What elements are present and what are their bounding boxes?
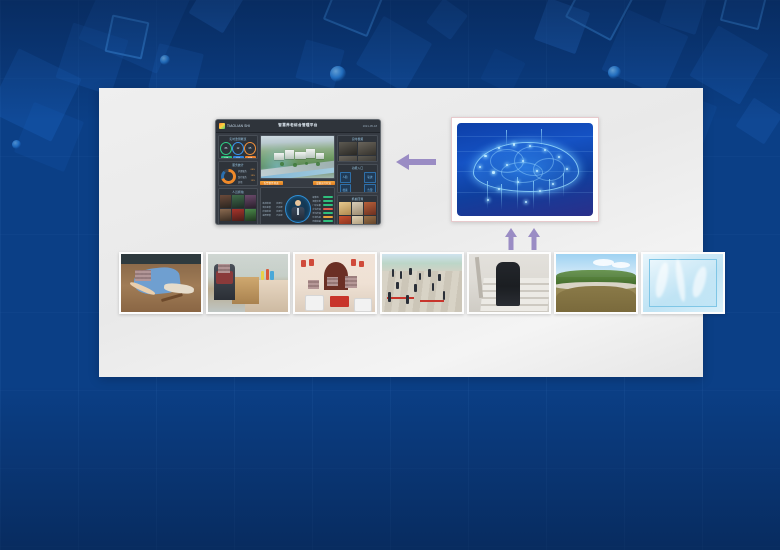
- photo-basin: [305, 295, 325, 311]
- legend-label: 护理服务: [238, 169, 247, 173]
- photo-person: [392, 269, 395, 277]
- brain-node: [484, 155, 486, 157]
- photo-image: [121, 254, 201, 312]
- device-bar: [323, 208, 332, 210]
- photo-image: [382, 254, 462, 312]
- campus-building: [274, 153, 283, 160]
- avatar-tie: [297, 208, 299, 215]
- capture-thumb[interactable]: [245, 209, 256, 222]
- live-video-card[interactable]: 实时视频: [337, 135, 378, 162]
- photo-bottle: [270, 271, 273, 279]
- campus-tree: [280, 162, 284, 166]
- photo-image: [469, 254, 549, 312]
- device-bar: [323, 204, 332, 206]
- device-label: 网络链路: [313, 220, 321, 223]
- alarm-event-row[interactable]: 徘徊检测处理中: [263, 210, 283, 213]
- bg-square-8: [323, 0, 385, 37]
- function-icon-face[interactable]: 人脸: [340, 172, 351, 183]
- brain-node: [498, 147, 500, 149]
- bg-glow-dot-1: [160, 55, 170, 65]
- bg-square-14: [601, 9, 688, 96]
- photo-person: [406, 295, 409, 304]
- brain-stem-line: [549, 179, 550, 207]
- photo-person: [400, 271, 403, 279]
- gauge-row: 86 12 05: [219, 141, 257, 155]
- photo-person-on-stairs: [496, 262, 520, 306]
- device-bar: [323, 196, 332, 198]
- gauge-online[interactable]: 86: [220, 142, 232, 155]
- alarm-label: 徘徊检测: [263, 210, 271, 213]
- function-entry-card[interactable]: 功能入口 人脸 轨迹 档案 告警: [337, 164, 378, 193]
- photo-person: [443, 291, 446, 300]
- campus-building: [316, 153, 324, 159]
- legend-value: 13%: [251, 180, 255, 184]
- photo-fall-detection[interactable]: [119, 252, 203, 314]
- alarm-label: 跌倒检测: [263, 202, 271, 205]
- photo-bedside-care[interactable]: [206, 252, 290, 314]
- device-label: 智能床垫: [313, 200, 321, 203]
- device-bar: [323, 220, 332, 222]
- bg-glow-dot-3: [608, 66, 621, 79]
- face-mosaic-overlay: [218, 264, 231, 273]
- campus-building: [306, 149, 315, 158]
- bg-square-11: [426, 0, 468, 40]
- capture-thumbs-card[interactable]: 人员抓拍: [218, 188, 258, 225]
- device-status-bar[interactable]: 设备运行状态: [313, 181, 336, 185]
- campus-building: [285, 150, 294, 158]
- photo-vest: [216, 271, 233, 284]
- bg-glow-dot-2: [330, 66, 346, 82]
- dashboard-header: TIAOLIAN SHI 智慧养老综合管理平台 2021-05-18: [216, 120, 380, 133]
- alarm-state: 已处理: [276, 214, 282, 217]
- photo-person: [409, 268, 412, 276]
- bg-square-13: [565, 0, 635, 41]
- photo-lake: [556, 286, 636, 312]
- function-icon-track[interactable]: 轨迹: [364, 172, 375, 183]
- overview-card[interactable]: 实时监测概览 86 12 05 正常 关注 异常: [218, 135, 258, 159]
- gauge-warning[interactable]: 12: [232, 142, 244, 155]
- photo-person: [432, 283, 435, 291]
- device-status-row[interactable]: 摄像机: [313, 196, 333, 199]
- bg-square-1: [78, 0, 192, 74]
- bg-square-7: [14, 102, 84, 172]
- service-legend: 护理服务 68% 医疗服务 19% 其他 13%: [238, 169, 255, 183]
- alarm-event-list: 跌倒检测处理中 离床报警已处理 徘徊检测处理中 越界预警已处理: [263, 202, 283, 217]
- live-video-grid: [338, 141, 377, 162]
- ai-neural-network-icon: [457, 123, 593, 216]
- photo-bottle: [261, 271, 264, 279]
- slide-content-panel: TIAOLIAN SHI 智慧养老综合管理平台 2021-05-18 实时监测概…: [99, 88, 703, 377]
- function-icon-archive[interactable]: 档案: [340, 184, 351, 193]
- brain-stem-line: [541, 129, 542, 148]
- up-arrow-left-icon: [504, 228, 518, 250]
- device-status-row[interactable]: 定位终端: [313, 208, 333, 211]
- photo-cloud: [612, 262, 630, 268]
- bg-square-9: [356, 16, 432, 92]
- video-feed[interactable]: [339, 156, 357, 162]
- photo-person: [388, 292, 391, 301]
- alarm-events-bar[interactable]: 告警事件列表: [260, 181, 283, 185]
- dashboard-title: 智慧养老综合管理平台: [278, 123, 317, 128]
- alarm-event-row[interactable]: 离床报警已处理: [263, 206, 283, 209]
- capture-thumb-grid: [219, 194, 257, 222]
- photo-handrail: [475, 257, 483, 298]
- device-label: 定位终端: [313, 208, 321, 211]
- capture-thumb[interactable]: [220, 195, 231, 208]
- video-feed[interactable]: [339, 142, 357, 155]
- dashboard-brand: TIAOLIAN SHI: [227, 124, 250, 128]
- device-bar: [323, 216, 332, 218]
- bg-square-2: [189, 0, 244, 33]
- brain-stem-line: [501, 184, 502, 210]
- photo-barrier: [420, 300, 444, 302]
- photo-wall-decor: [301, 260, 306, 267]
- function-icon-grid: 人脸 轨迹 档案 告警: [338, 170, 377, 193]
- photo-red-box: [330, 296, 349, 308]
- alarm-label: 越界预警: [263, 214, 271, 217]
- photo-activity-room[interactable]: [293, 252, 377, 314]
- device-status-row[interactable]: 门禁设备: [313, 204, 333, 207]
- focus-person-avatar[interactable]: [285, 195, 311, 223]
- photo-object: [161, 293, 183, 303]
- video-feed[interactable]: [358, 142, 376, 155]
- bg-square-17: [720, 0, 768, 30]
- photo-image: [295, 254, 375, 312]
- brain-node: [525, 201, 527, 203]
- up-arrow-right-icon: [527, 228, 541, 250]
- service-donut-chart[interactable]: [221, 169, 236, 184]
- face-mosaic-overlay: [345, 276, 358, 288]
- brain-stem-line: [506, 130, 507, 147]
- alarm-state: 已处理: [276, 206, 282, 209]
- capture-thumb[interactable]: [232, 209, 243, 222]
- gallery-thumb[interactable]: [352, 216, 364, 225]
- pill-normal[interactable]: 正常: [221, 156, 232, 159]
- device-status-list: 摄像机 智能床垫 门禁设备 定位终端 呼叫终端 环境传感 网络链路: [313, 196, 333, 223]
- gallery-thumb[interactable]: [364, 216, 376, 225]
- brain-scanline: [457, 192, 593, 193]
- photo-person: [396, 282, 399, 290]
- focus-person-panel[interactable]: 跌倒检测处理中 离床报警已处理 徘徊检测处理中 越界预警已处理 摄像机 智能床垫…: [260, 187, 335, 225]
- gallery-thumb[interactable]: [339, 216, 351, 225]
- device-status-row[interactable]: 呼叫终端: [313, 212, 333, 215]
- photo-lakeside-park[interactable]: [554, 252, 638, 314]
- device-status-row[interactable]: 环境传感: [313, 216, 333, 219]
- campus-tree: [293, 163, 297, 167]
- service-legend-row: 护理服务 68%: [238, 169, 255, 173]
- brain-node: [536, 170, 538, 172]
- brain-stem-line: [563, 173, 564, 197]
- dashboard-left-column: 实时监测概览 86 12 05 正常 关注 异常 服务统计: [218, 135, 258, 225]
- bg-square-15: [659, 0, 707, 35]
- service-donut-wrap: 护理服务 68% 医疗服务 19% 其他 13%: [219, 167, 257, 186]
- bg-square-3: [55, 22, 128, 95]
- brain-scanline: [457, 136, 593, 137]
- function-icon-alarm[interactable]: 告警: [364, 184, 375, 193]
- left-arrow-icon: [396, 152, 436, 172]
- service-legend-row: 其他 13%: [238, 180, 255, 184]
- gauge-alarm[interactable]: 05: [244, 142, 256, 155]
- alarm-event-row[interactable]: 跌倒检测处理中: [263, 202, 283, 205]
- bg-square-19: [735, 97, 780, 144]
- brain-stem-line: [533, 181, 534, 211]
- dashboard-screenshot[interactable]: TIAOLIAN SHI 智慧养老综合管理平台 2021-05-18 实时监测概…: [215, 119, 381, 225]
- photo-wall-decor: [351, 259, 356, 266]
- photo-person: [438, 274, 441, 282]
- legend-value: 19%: [251, 175, 255, 179]
- status-pill-row: 正常 关注 异常: [219, 155, 257, 159]
- capture-thumb[interactable]: [232, 195, 243, 208]
- brain-node: [479, 166, 481, 168]
- dashboard-body: 实时监测概览 86 12 05 正常 关注 异常 服务统计: [216, 133, 380, 225]
- photo-bottle: [266, 269, 269, 279]
- device-status-row[interactable]: 智能床垫: [313, 200, 333, 203]
- device-status-row[interactable]: 网络链路: [313, 220, 333, 223]
- photo-pavement: [382, 271, 462, 312]
- service-legend-row: 医疗服务 19%: [238, 175, 255, 179]
- bg-square-12: [534, 0, 590, 54]
- video-feed[interactable]: [358, 156, 376, 162]
- capture-gallery-grid: [338, 201, 377, 225]
- photo-cabinet: [232, 277, 259, 304]
- legend-label: 医疗服务: [238, 175, 247, 179]
- bg-square-10: [295, 39, 344, 88]
- device-bar: [323, 200, 332, 202]
- gallery-thumb[interactable]: [364, 202, 376, 215]
- photo-image: [556, 254, 636, 312]
- campus-3d-view[interactable]: [260, 135, 335, 179]
- evidence-photo-strip: [119, 252, 725, 314]
- alarm-state: 处理中: [276, 210, 282, 213]
- brain-stem-line: [517, 177, 518, 210]
- bg-square-4: [104, 14, 149, 59]
- photo-placeholder[interactable]: [641, 252, 725, 314]
- pill-abnormal[interactable]: 异常: [245, 156, 256, 159]
- brain-node: [492, 171, 494, 173]
- bg-glow-dot-4: [12, 140, 21, 149]
- dashboard-time: 2021-05-18: [363, 124, 377, 128]
- function-icon-spacer: [352, 172, 363, 183]
- brain-node: [506, 164, 508, 166]
- photo-wall-decor: [309, 259, 314, 267]
- dashboard-center-column: 告警事件列表 设备运行状态 跌倒检测处理中 离床报警已处理 徘徊检测处理中 越界…: [260, 135, 335, 225]
- brain-stem-line: [487, 181, 488, 209]
- bg-square-5: [0, 48, 82, 142]
- dashboard-right-column: 实时视频 功能入口 人脸 轨迹 档案: [337, 135, 378, 225]
- gallery-thumb[interactable]: [352, 202, 364, 215]
- dashboard-logo-icon: [219, 123, 225, 129]
- ai-brain-card[interactable]: [451, 117, 599, 222]
- brain-node: [539, 190, 541, 192]
- photo-courtyard-crowd[interactable]: [380, 252, 464, 314]
- face-mosaic-overlay: [308, 280, 319, 289]
- face-mosaic-overlay: [327, 277, 338, 286]
- alarm-event-row[interactable]: 越界预警已处理: [263, 214, 283, 217]
- capture-thumb[interactable]: [220, 209, 231, 222]
- legend-label: 其他: [238, 180, 242, 184]
- photo-person: [419, 273, 422, 281]
- service-stats-card[interactable]: 服务统计 护理服务 68% 医疗服务 19%: [218, 161, 258, 186]
- photo-image: [208, 254, 288, 312]
- device-label: 呼叫终端: [313, 212, 321, 215]
- photo-person: [428, 269, 431, 277]
- photo-wall-decor: [359, 261, 364, 267]
- photo-cloud: [593, 259, 614, 266]
- brain-fold: [533, 158, 565, 180]
- legend-value: 68%: [251, 169, 255, 173]
- avatar-head: [295, 200, 301, 206]
- device-label: 环境传感: [313, 216, 321, 219]
- capture-gallery-card[interactable]: 抓拍回溯: [337, 195, 378, 225]
- device-bar: [323, 212, 332, 214]
- alarm-label: 离床报警: [263, 206, 271, 209]
- function-icon-spacer: [352, 184, 363, 193]
- photo-basin: [354, 298, 372, 312]
- device-label: 门禁设备: [313, 204, 321, 207]
- alarm-state: 处理中: [276, 202, 282, 205]
- pill-attention[interactable]: 关注: [233, 156, 244, 159]
- photo-stairway[interactable]: [467, 252, 551, 314]
- device-label: 摄像机: [313, 196, 319, 199]
- photo-image: [643, 254, 723, 312]
- dashboard-bar-row: 告警事件列表 设备运行状态: [260, 181, 335, 185]
- campus-building: [295, 152, 305, 159]
- capture-thumb[interactable]: [245, 195, 256, 208]
- photo-person: [414, 284, 417, 292]
- face-mosaic-overlay: [135, 270, 151, 280]
- gallery-thumb[interactable]: [339, 202, 351, 215]
- bg-square-20: [480, 48, 525, 93]
